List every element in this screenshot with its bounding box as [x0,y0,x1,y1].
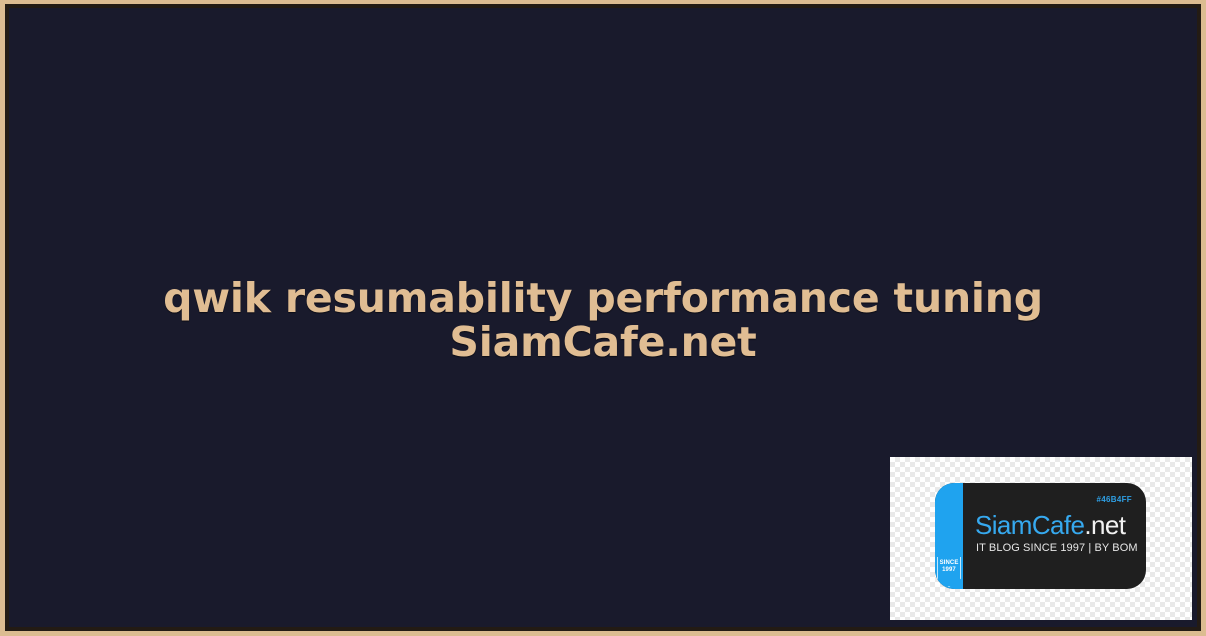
logo-hex-color-label: #46B4FF [1097,495,1132,504]
logo-wordmark-suffix: .net [1084,510,1125,540]
shield-since-label: SINCE [940,560,959,567]
logo-wordmark: SiamCafe.net [975,511,1125,539]
logo-wordmark-primary: SiamCafe [975,510,1084,540]
page-frame: qwik resumability performance tuning Sia… [0,0,1206,636]
page-title: qwik resumability performance tuning Sia… [9,276,1197,364]
logo-image: SINCE 1997 #46B4FF SiamCafe.net IT BLOG … [890,457,1192,620]
logo-tagline: IT BLOG SINCE 1997 | BY BOM [976,542,1138,555]
page-bezel: qwik resumability performance tuning Sia… [5,4,1201,631]
logo-body: #46B4FF SiamCafe.net IT BLOG SINCE 1997 … [963,483,1146,589]
shield-year-label: 1997 [942,567,956,574]
page-title-line-1: qwik resumability performance tuning [69,276,1137,320]
slide-canvas: qwik resumability performance tuning Sia… [9,8,1197,627]
page-title-line-2: SiamCafe.net [69,320,1137,364]
siamcafe-logo-card: SINCE 1997 #46B4FF SiamCafe.net IT BLOG … [935,483,1146,589]
